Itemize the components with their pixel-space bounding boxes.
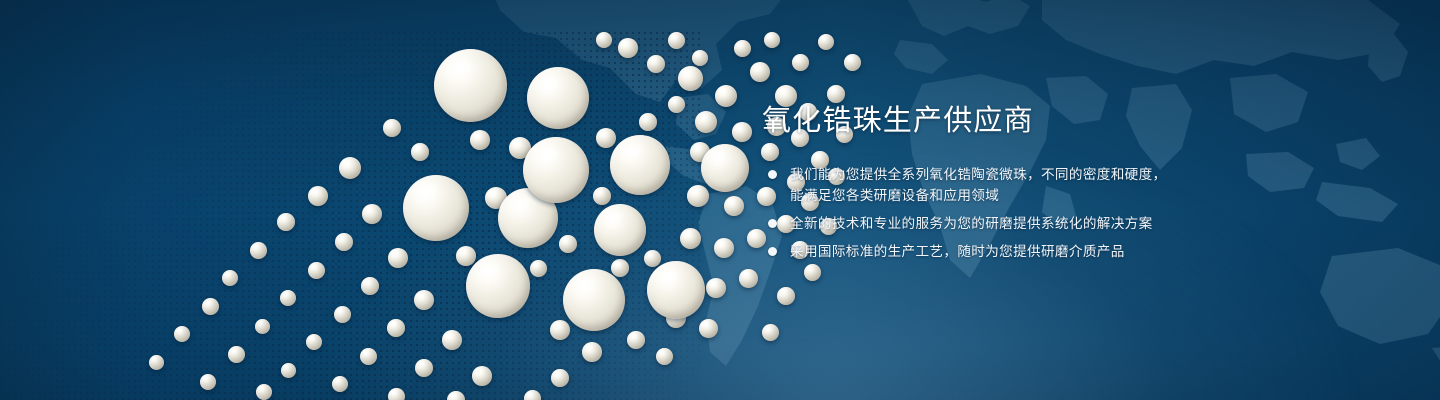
list-item: 我们能为您提供全系列氧化锆陶瓷微珠，不同的密度和硬度，能满足您各类研磨设备和应用…	[762, 164, 1232, 206]
bullet-dot-icon	[768, 219, 777, 228]
bullet-dot-icon	[768, 170, 777, 179]
list-item: 全新的技术和专业的服务为您的研磨提供系统化的解决方案	[762, 213, 1232, 234]
page-title: 氧化锆珠生产供应商	[762, 104, 1232, 138]
banner-copy: 氧化锆珠生产供应商 我们能为您提供全系列氧化锆陶瓷微珠，不同的密度和硬度，能满足…	[762, 104, 1232, 262]
hero-banner: 氧化锆珠生产供应商 我们能为您提供全系列氧化锆陶瓷微珠，不同的密度和硬度，能满足…	[0, 0, 1440, 400]
list-item-text: 能满足您各类研磨设备和应用领域	[790, 185, 1232, 206]
list-item: 采用国际标准的生产工艺，随时为您提供研磨介质产品	[762, 241, 1232, 262]
list-item-text: 采用国际标准的生产工艺，随时为您提供研磨介质产品	[790, 241, 1232, 262]
list-item-text: 全新的技术和专业的服务为您的研磨提供系统化的解决方案	[790, 213, 1232, 234]
bullet-dot-icon	[768, 247, 777, 256]
feature-list: 我们能为您提供全系列氧化锆陶瓷微珠，不同的密度和硬度，能满足您各类研磨设备和应用…	[762, 164, 1232, 262]
list-item-text: 我们能为您提供全系列氧化锆陶瓷微珠，不同的密度和硬度，	[790, 164, 1232, 185]
